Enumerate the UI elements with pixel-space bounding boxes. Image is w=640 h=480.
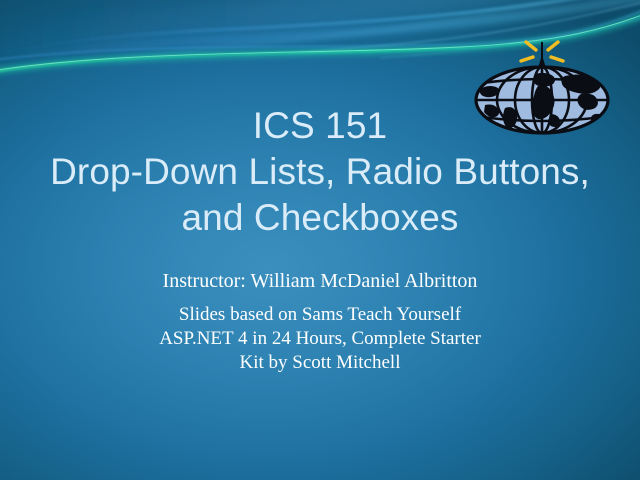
credit-line-3: Kit by Scott Mitchell bbox=[0, 351, 640, 375]
presentation-title-slide: ICS 151 Drop-Down Lists, Radio Buttons, … bbox=[0, 0, 640, 480]
instructor-line: Instructor: William McDaniel Albritton bbox=[0, 268, 640, 295]
title-line-3: and Checkboxes bbox=[0, 195, 640, 241]
slide-title: ICS 151 Drop-Down Lists, Radio Buttons, … bbox=[0, 103, 640, 241]
credit-line-2: ASP.NET 4 in 24 Hours, Complete Starter bbox=[0, 327, 640, 351]
antenna-signal-icon bbox=[521, 42, 563, 61]
title-line-2: Drop-Down Lists, Radio Buttons, bbox=[0, 149, 640, 195]
title-line-1: ICS 151 bbox=[0, 103, 640, 149]
antenna-tower-icon bbox=[534, 42, 551, 90]
credit-block: Slides based on Sams Teach Yourself ASP.… bbox=[0, 303, 640, 375]
credit-line-1: Slides based on Sams Teach Yourself bbox=[0, 303, 640, 327]
slide-subtitle: Instructor: William McDaniel Albritton S… bbox=[0, 268, 640, 375]
